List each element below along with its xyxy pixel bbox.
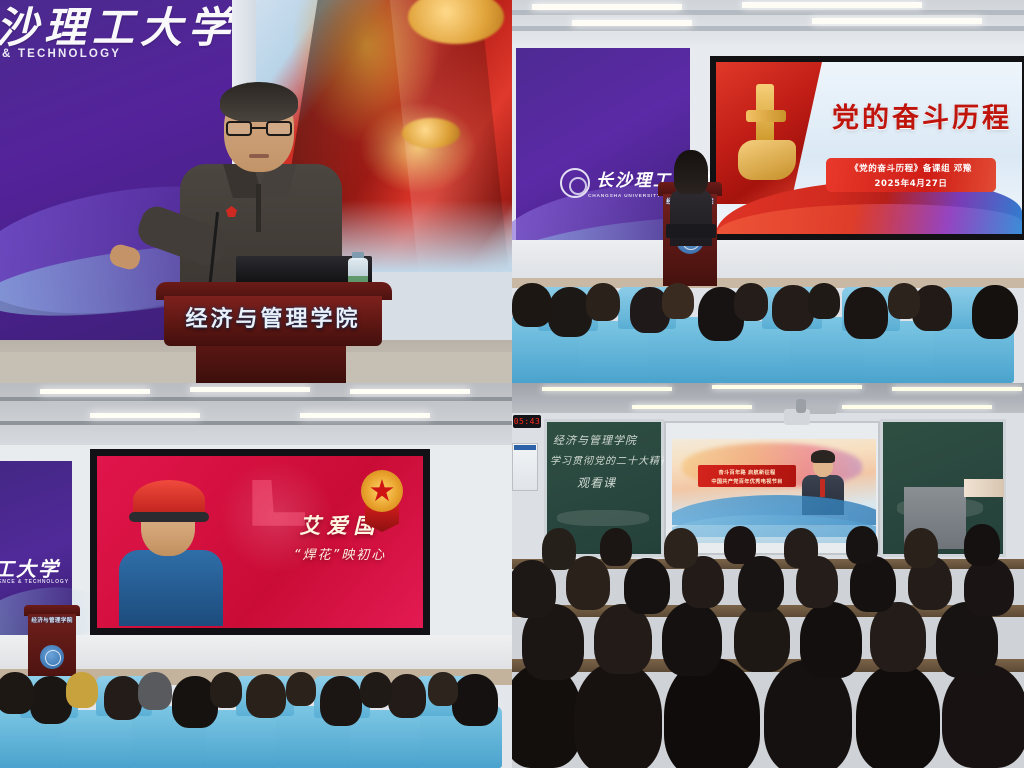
eyeglasses-icon [226, 121, 292, 136]
podium-label-bottom-left: 经济与管理学院 [28, 616, 76, 624]
university-logo-icon [560, 168, 590, 198]
audience-top-right [512, 273, 1024, 383]
panel-top-right-lecture-hall: 长沙理工大学 CHANGSHA UNIVERSITY OF SCIENCE & … [512, 0, 1024, 383]
medal-icon [357, 470, 407, 532]
led-video-wall: 艾爱国 “焊花”映初心 [90, 449, 430, 635]
podium-label-top-left: 经济与管理学院 [164, 300, 382, 334]
audience-bottom-right [512, 518, 1024, 768]
podium-seal-icon [40, 645, 64, 669]
banner-university-name-en: OF SCIENCE & TECHNOLOGY [0, 579, 69, 585]
chalkboard-line-3: 观看课 [577, 474, 616, 491]
gold-emblem-lower [402, 118, 460, 148]
chalkboard-line-2: 学习贯彻党的二十大精神 [550, 452, 671, 467]
slide-subtitle-line1: 《党的奋斗历程》备课组 邓豫 [826, 162, 996, 174]
female-presenter-figure [664, 150, 716, 244]
led-tagline: “焊花”映初心 [263, 544, 417, 563]
camera-icon [796, 399, 806, 413]
ceiling [0, 383, 512, 451]
panel-bottom-left-auditorium: 理工大学 OF SCIENCE & TECHNOLOGY 艾爱国 “焊花”映初心 [0, 383, 512, 768]
laptop-on-podium [666, 224, 716, 238]
hand-graphic [738, 140, 796, 180]
led-presentation-screen: 党的奋斗历程 《党的奋斗历程》备课组 邓豫 2025年4月27日 [710, 56, 1024, 240]
projected-headline-box: 奋斗百年路 启航新征程 中国共产党百年优秀电视节目 [698, 465, 796, 487]
slide-title: 党的奋斗历程 [824, 96, 1020, 135]
chalkboard-line-1: 经济与管理学院 [553, 432, 637, 448]
digital-clock-display: 05:43 [513, 415, 541, 428]
projected-headline-line2: 中国共产党百年优秀电视节目 [698, 478, 796, 485]
projected-headline-line1: 奋斗百年路 启航新征程 [698, 469, 796, 476]
wall-poster [512, 443, 538, 491]
slide-subtitle-line2: 2025年4月27日 [826, 177, 996, 189]
audience-bottom-left [0, 668, 512, 768]
banner-university-name-en: CIENCE & TECHNOLOGY [0, 48, 121, 60]
slide-subtitle-box: 《党的奋斗历程》备课组 邓豫 2025年4月27日 [826, 158, 996, 192]
panel-bottom-right-classroom: 05:43 经济与管理学院 学习贯彻党的二十大精神 观看课 [512, 383, 1024, 768]
ceiling [512, 0, 1024, 46]
panel-top-left-male-lecturer: 长沙理工大学 CIENCE & TECHNOLOGY [0, 0, 512, 383]
banner-university-name-cn: 长沙理工大学 [0, 0, 236, 55]
photo-collage: 长沙理工大学 CIENCE & TECHNOLOGY [0, 0, 1024, 768]
banner-university-name-cn: 理工大学 [0, 553, 60, 582]
